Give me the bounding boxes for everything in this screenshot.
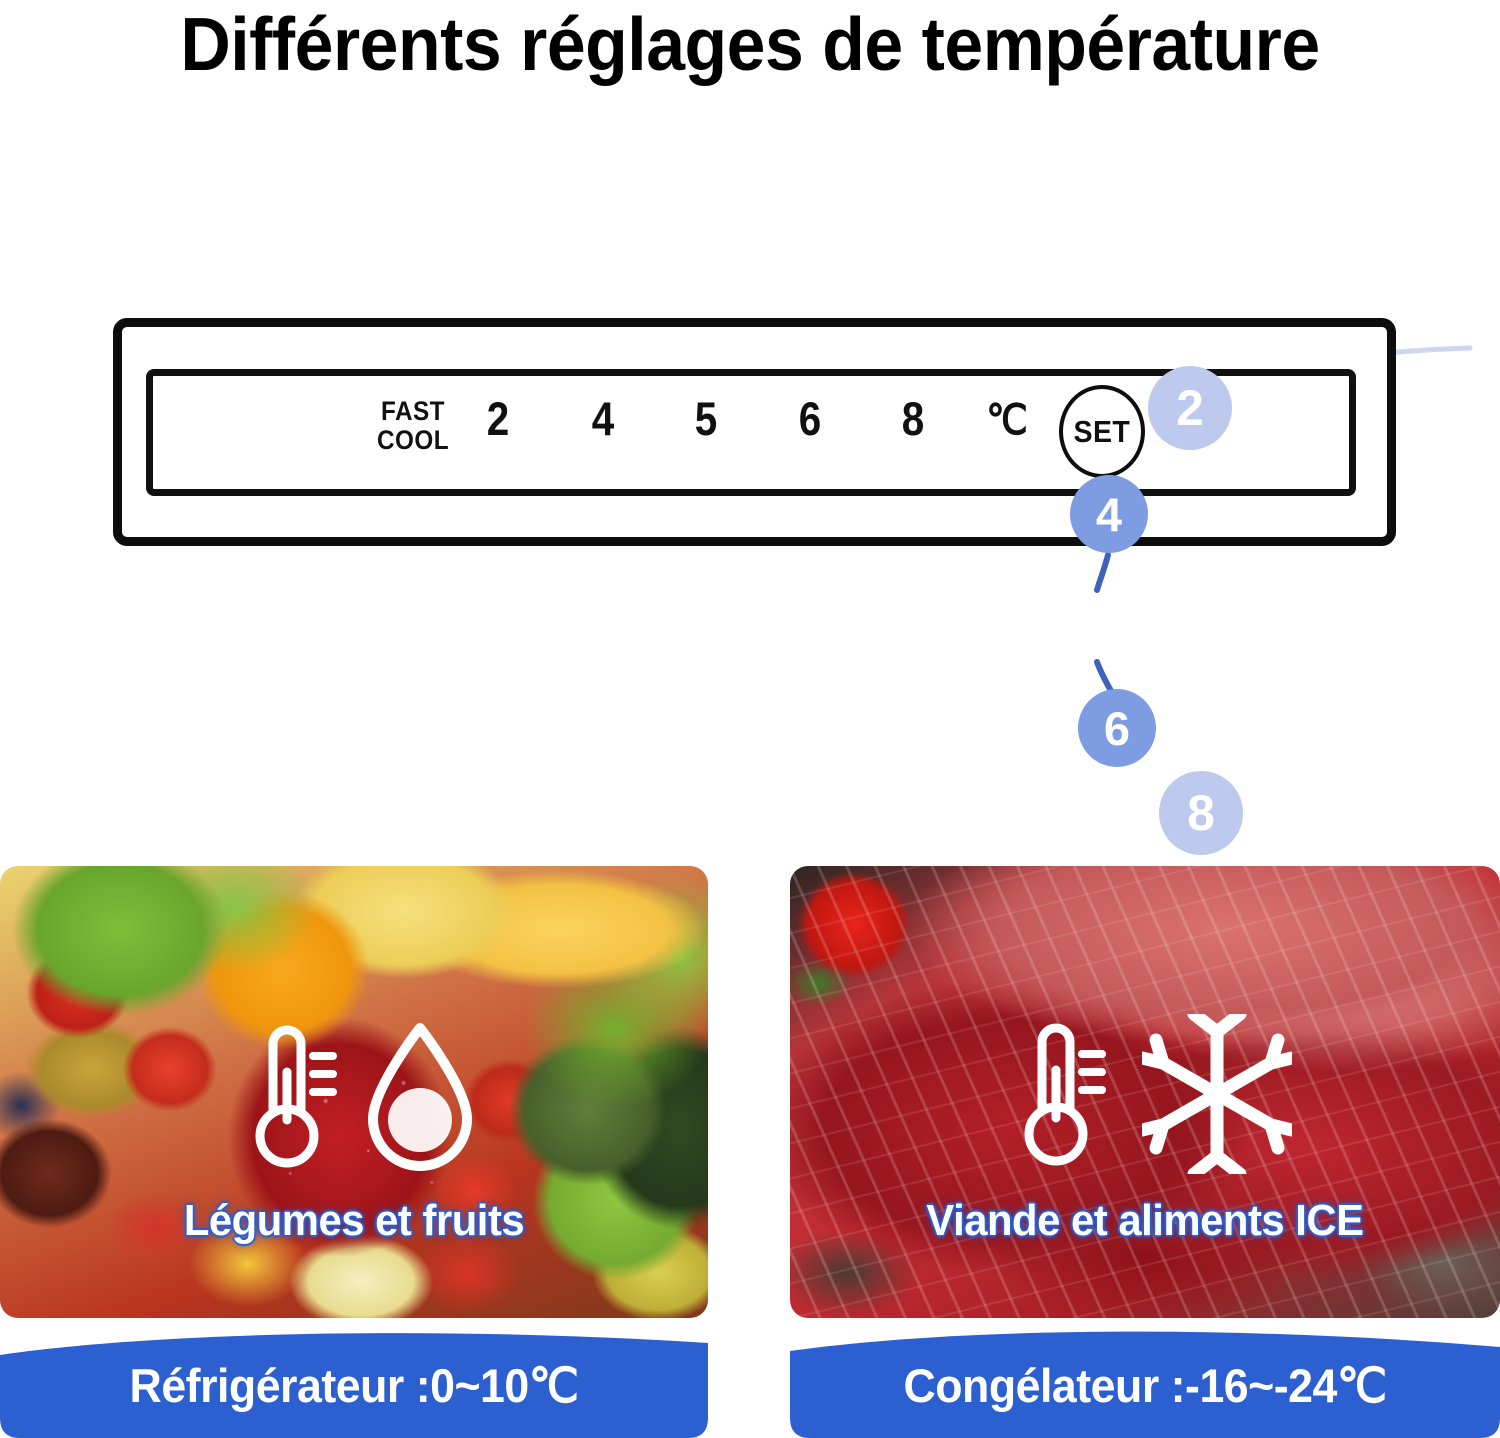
- set-button-label: SET: [1074, 414, 1131, 450]
- temperature-zone-cards: Légumes et fruits Réfrigérateur :0~10℃: [0, 866, 1500, 1438]
- card-freezer: Viande et aliments ICE Congélateur :-16~…: [790, 866, 1500, 1438]
- temperature-label-2[interactable]: 2: [472, 391, 524, 447]
- callout-bubble-8[interactable]: 8: [1159, 771, 1243, 855]
- fast-cool-line-2: COOL: [377, 425, 449, 455]
- banner-text-refrigerator: Réfrigérateur :0~10℃: [18, 1359, 691, 1413]
- fast-cool-line-1: FAST: [381, 396, 445, 426]
- card-refrigerator: Légumes et fruits Réfrigérateur :0~10℃: [0, 866, 708, 1438]
- callout-bubble-4[interactable]: 4: [1070, 475, 1148, 553]
- temperature-label-5[interactable]: 5: [680, 391, 732, 447]
- callout-bubble-6[interactable]: 6: [1078, 689, 1156, 767]
- page-title: Différents réglages de température: [53, 2, 1448, 86]
- photo-caption-left: Légumes et fruits: [18, 1196, 691, 1246]
- fast-cool-label[interactable]: FAST COOL: [370, 397, 456, 455]
- temperature-label-6[interactable]: 6: [784, 391, 836, 447]
- temperature-label-4[interactable]: 4: [577, 391, 629, 447]
- banner-refrigerator: Réfrigérateur :0~10℃: [0, 1321, 708, 1438]
- photo-caption-right: Viande et aliments ICE: [808, 1196, 1483, 1246]
- set-button[interactable]: SET: [1059, 385, 1145, 478]
- fruits-and-vegetables-photo: Légumes et fruits: [0, 866, 708, 1318]
- callout-bubble-2[interactable]: 2: [1148, 366, 1232, 450]
- raw-steak-photo: Viande et aliments ICE: [790, 866, 1500, 1318]
- celsius-unit-label: ℃: [973, 394, 1042, 446]
- control-panel-illustration: FAST COOL 2 4 5 6 8 ℃ SET 2 4 6 8: [0, 170, 1500, 730]
- banner-text-freezer: Congélateur :-16~-24℃: [808, 1359, 1483, 1413]
- banner-freezer: Congélateur :-16~-24℃: [790, 1321, 1500, 1438]
- temperature-label-8[interactable]: 8: [887, 391, 939, 447]
